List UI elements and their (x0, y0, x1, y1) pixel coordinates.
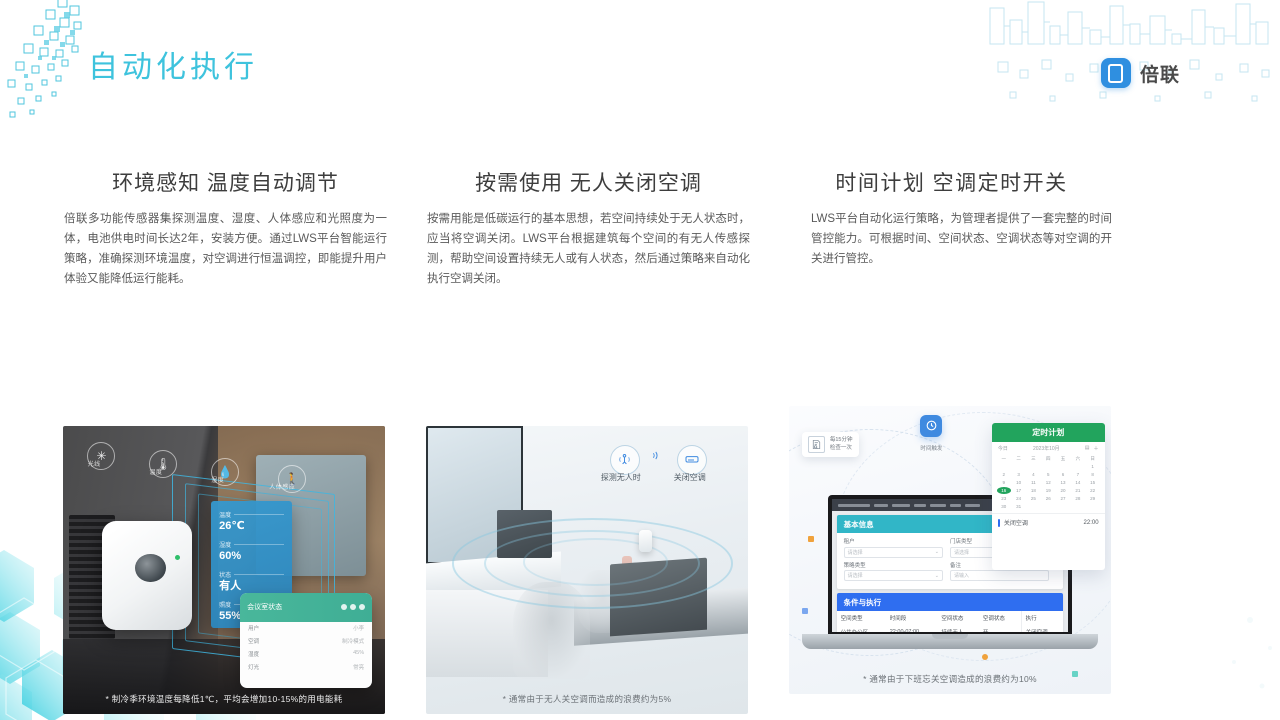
calendar-day[interactable]: 27 (1056, 495, 1070, 502)
room-status-row: 用户 小李 (240, 622, 372, 635)
rule-panel: 条件与执行 空间类型 时间段 空间状态 空调状态 执行 (837, 593, 1064, 632)
readout-value: 26℃ (219, 519, 284, 533)
calendar-day-empty (1041, 503, 1055, 510)
motion-icon-label: 人体感应 (265, 482, 299, 491)
row-value: 制冷模式 (342, 637, 364, 645)
calendar-day[interactable]: 8 (1086, 471, 1100, 478)
readout-item: 状态 有人 (219, 570, 284, 593)
readout-item: 湿度 60% (219, 540, 284, 563)
calendar-day-empty (1071, 503, 1085, 510)
clock-icon (920, 415, 942, 437)
col-header: 时间段 (886, 611, 938, 625)
calendar-day[interactable]: 3 (1012, 471, 1026, 478)
calendar-day-empty (1071, 463, 1085, 470)
sensor-capability-icons: ✳ 光线 🌡 温度 💧 湿度 🚶 人体感应 (82, 440, 340, 498)
field-value: 请选择 (954, 549, 969, 556)
column-1-figure: ✳ 光线 🌡 温度 💧 湿度 🚶 人体感应 温度 26℃ (63, 426, 385, 714)
calendar-day-empty (1012, 463, 1026, 470)
calendar-month-label: 2023年10月 (1033, 445, 1060, 452)
readout-key: 照度 (219, 600, 231, 609)
decor-square (802, 608, 808, 614)
time-trigger-label: 时间触发 (920, 446, 942, 452)
calendar-day-empty (1056, 463, 1070, 470)
calendar-event-row[interactable]: 关闭空调 22:00 (992, 513, 1105, 531)
chip-line-2: 检查一次 (830, 445, 852, 451)
calendar-day[interactable]: 22 (1086, 487, 1100, 494)
feature-column-3: 时间计划 空调定时开关 LWS平台自动化运行策略，为管理者提供了一套完整的时间管… (789, 150, 1114, 557)
occupancy-sensor-label: 探测无人时 (595, 472, 647, 483)
tenant-select[interactable]: 请选择 ⌄ (844, 547, 943, 558)
row-key: 灯光 (248, 663, 259, 671)
calendar-day[interactable]: 25 (1027, 495, 1041, 502)
wifi-signal-icon (649, 449, 662, 467)
calendar-weekday: 日 (1086, 455, 1100, 462)
calendar-weekday: 一 (997, 455, 1011, 462)
column-3-body: LWS平台自动化运行策略，为管理者提供了一套完整的时间管控能力。可根据时间、空间… (789, 209, 1114, 269)
page-title: 自动化执行 (88, 48, 258, 88)
calendar-day[interactable]: 6 (1056, 471, 1070, 478)
calendar-weekday: 五 (1056, 455, 1070, 462)
brand-name: 倍联 (1140, 60, 1180, 87)
time-trigger-badge: 时间触发 (911, 415, 951, 455)
sensor-led-icon (175, 555, 180, 560)
calendar-day[interactable]: 18 (1027, 487, 1041, 494)
chevron-down-icon: ⌄ (935, 549, 939, 555)
calendar-day[interactable]: 11 (1027, 479, 1041, 486)
calendar-day-empty (1056, 503, 1070, 510)
calendar-day[interactable]: 29 (1086, 495, 1100, 502)
col-header: 执行 (1021, 611, 1063, 625)
cell: 22:00-07:00 (886, 625, 938, 632)
calendar-day[interactable]: 13 (1056, 479, 1070, 486)
row-key: 湿度 (248, 650, 259, 658)
table-header-row: 空间类型 时间段 空间状态 空调状态 执行 (837, 611, 1064, 625)
calendar-day[interactable]: 2 (997, 471, 1011, 478)
event-name: 关闭空调 (1004, 518, 1028, 527)
column-2-figure: 探测无人时 关闭空调 * 通常由于无人关空调而造成的浪费约为5% (426, 426, 748, 714)
form-field: 租户 请选择 ⌄ (844, 537, 950, 558)
readout-value: 60% (219, 549, 284, 563)
calendar-day[interactable]: 19 (1041, 487, 1055, 494)
calendar-day[interactable]: 20 (1056, 487, 1070, 494)
column-2-caption: * 通常由于无人关空调而造成的浪费约为5% (426, 693, 748, 705)
column-3-title: 时间计划 空调定时开关 (789, 169, 1114, 199)
calendar-day[interactable]: 23 (997, 495, 1011, 502)
field-label: 租户 (844, 537, 943, 545)
calendar-today-button[interactable]: 今日 (998, 445, 1008, 452)
air-conditioner-label: 关闭空调 (664, 472, 716, 483)
calendar-day[interactable]: 28 (1071, 495, 1085, 502)
calendar-day[interactable]: 17 (1012, 487, 1026, 494)
rule-table: 空间类型 时间段 空间状态 空调状态 执行 公共办公区 22:00-07:00 (837, 611, 1064, 632)
sensor-device (102, 521, 192, 630)
window-dots-icon (341, 604, 365, 610)
readout-item: 温度 26℃ (219, 510, 284, 533)
column-2-title: 按需使用 无人关闭空调 (426, 169, 751, 199)
laptop-base (802, 634, 1098, 650)
col-header: 空间状态 (937, 611, 979, 625)
chip-line-1: 每15分钟 (830, 437, 853, 443)
event-time: 22:00 (1084, 520, 1099, 526)
column-3-caption: * 通常由于下班忘关空调造成的浪费约为10% (789, 673, 1111, 685)
calendar-grid: 一二三四五六日123456789101112131415161718192021… (992, 455, 1105, 513)
readout-key: 温度 (219, 510, 231, 519)
ceiling-sensor (639, 530, 652, 552)
document-search-icon (808, 436, 825, 453)
calendar-day[interactable]: 1 (1086, 463, 1100, 470)
calendar-day[interactable]: 26 (1041, 495, 1055, 502)
calendar-day-empty (997, 463, 1011, 470)
light-icon-label: 光线 (77, 459, 111, 468)
calendar-day[interactable]: 9 (997, 479, 1011, 486)
remark-input[interactable]: 请输入 (950, 570, 1049, 581)
row-value: 常亮 (353, 663, 364, 671)
room-status-row: 湿度 45% (240, 648, 372, 661)
readout-value: 有人 (219, 579, 284, 593)
calendar-list-icon[interactable]: ▤ (1085, 445, 1090, 452)
feature-column-2: 按需使用 无人关闭空调 按需用能是低碳运行的基本思想，若空间持续处于无人状态时，… (426, 150, 751, 577)
calendar-day[interactable]: 7 (1071, 471, 1085, 478)
row-value: 小李 (353, 624, 364, 632)
field-label: 策略类型 (844, 561, 943, 569)
decoration-dots-bottom-right (1130, 600, 1280, 720)
calendar-day[interactable]: 10 (1012, 479, 1026, 486)
calendar-day[interactable]: 16 (997, 487, 1011, 494)
calendar-day[interactable]: 21 (1071, 487, 1085, 494)
col-header: 空调状态 (979, 611, 1021, 625)
humidity-icon-label: 湿度 (201, 475, 235, 484)
sensor-lens-icon (135, 554, 166, 582)
calendar-day[interactable]: 24 (1012, 495, 1026, 502)
cell: 持续无人 (937, 625, 979, 632)
calendar-day[interactable]: 5 (1041, 471, 1055, 478)
calendar-day-empty (1041, 463, 1055, 470)
occupancy-sensor-icon (610, 445, 640, 475)
slide-root: 自动化执行 倍联 环境感知 温度自动调节 倍联多功能传感器集探测温度、湿度、人体… (0, 0, 1280, 720)
columns-container: 环境感知 温度自动调节 倍联多功能传感器集探测温度、湿度、人体感应和光照度为一体… (0, 150, 1280, 590)
cell: 关闭空调 (1021, 625, 1063, 632)
room-status-card: 会议室状态 用户 小李 空调 制冷模式 湿度 45% (240, 593, 372, 688)
calendar-day[interactable]: 30 (997, 503, 1011, 510)
field-value: 请选择 (848, 572, 863, 579)
calendar-day[interactable]: 4 (1027, 471, 1041, 478)
brand-logo: 倍联 (1101, 58, 1180, 88)
calendar-day[interactable]: 14 (1071, 479, 1085, 486)
column-3-figure: 每15分钟 检查一次 时间触发 (789, 406, 1111, 694)
air-conditioner-icon (677, 445, 707, 475)
field-value: 请选择 (848, 549, 863, 556)
feature-column-1: 环境感知 温度自动调节 倍联多功能传感器集探测温度、湿度、人体感应和光照度为一体… (63, 150, 388, 577)
table-row: 公共办公区 22:00-07:00 持续无人 开 关闭空调 (837, 625, 1064, 632)
calendar-weekday: 三 (1027, 455, 1041, 462)
row-key: 用户 (248, 624, 259, 632)
column-1-title: 环境感知 温度自动调节 (63, 169, 388, 199)
check-interval-chip: 每15分钟 检查一次 (802, 432, 859, 457)
calendar-weekday: 四 (1041, 455, 1055, 462)
readout-key: 状态 (219, 570, 231, 579)
room-status-row: 灯光 常亮 (240, 661, 372, 674)
column-1-body: 倍联多功能传感器集探测温度、湿度、人体感应和光照度为一体，电池供电时间长达2年，… (63, 209, 388, 289)
rule-panel-title: 条件与执行 (837, 593, 1064, 611)
col-header: 空间类型 (837, 611, 886, 625)
schedule-calendar-card: 定时计划 今日 2023年10月 ▤ ＋ 一二三四五六日123456789101… (992, 423, 1105, 570)
cell: 开 (979, 625, 1021, 632)
calendar-day[interactable]: 15 (1086, 479, 1100, 486)
room-status-title: 会议室状态 (247, 602, 282, 612)
readout-key: 湿度 (219, 540, 231, 549)
calendar-title: 定时计划 (992, 423, 1105, 442)
calendar-weekday: 六 (1071, 455, 1085, 462)
column-2-body: 按需用能是低碳运行的基本思想，若空间持续处于无人状态时，应当将空调关闭。LWS平… (426, 209, 751, 289)
calendar-day-empty (1027, 463, 1041, 470)
form-field: 策略类型 请选择 ⌄ (844, 561, 950, 582)
row-value: 45% (353, 650, 364, 658)
row-key: 空调 (248, 637, 259, 645)
column-1-caption: * 制冷季环境温度每降低1℃，平均会增加10-15%的用电能耗 (63, 693, 385, 705)
strategy-type-select[interactable]: 请选择 ⌄ (844, 570, 943, 581)
add-schedule-icon[interactable]: ＋ (1094, 445, 1099, 452)
event-marker-icon (998, 519, 1000, 527)
calendar-day[interactable]: 12 (1041, 479, 1055, 486)
calendar-day[interactable]: 31 (1012, 503, 1026, 510)
column-2-icon-group: 探测无人时 关闭空调 (593, 440, 728, 498)
decor-square (808, 536, 814, 542)
decor-square (982, 654, 988, 660)
chevron-down-icon: ⌄ (935, 573, 939, 579)
calendar-day-empty (1027, 503, 1041, 510)
cell: 公共办公区 (837, 625, 886, 632)
temperature-icon-label: 温度 (139, 467, 173, 476)
room-status-row: 空调 制冷模式 (240, 635, 372, 648)
brand-mark-icon (1101, 58, 1131, 88)
calendar-weekday: 二 (1012, 455, 1026, 462)
field-value: 请输入 (954, 572, 969, 579)
